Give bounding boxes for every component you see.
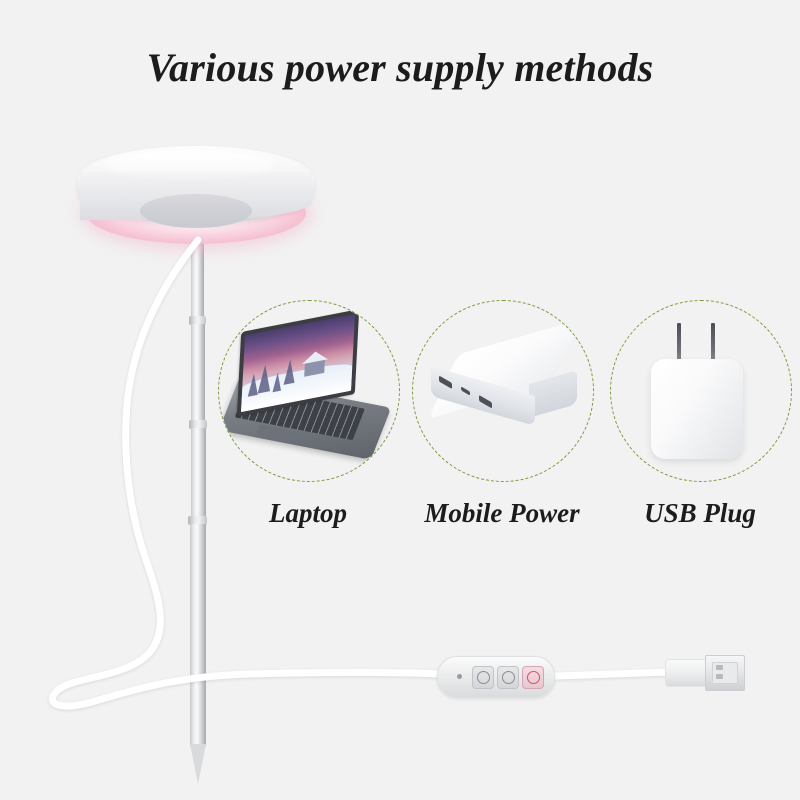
lamp-highlight bbox=[104, 150, 274, 180]
inline-controller[interactable] bbox=[437, 656, 555, 698]
power-option-label-usb-plug: USB Plug bbox=[610, 498, 790, 529]
power-button[interactable] bbox=[522, 666, 544, 689]
usb-contact-pin bbox=[716, 674, 723, 679]
status-led-icon bbox=[457, 674, 462, 679]
power-option-label-mobile-power: Mobile Power bbox=[402, 498, 602, 529]
pole-segment-1 bbox=[191, 232, 204, 318]
usb-a-connector bbox=[665, 655, 743, 689]
usb-contact-pin bbox=[716, 665, 723, 670]
page-title: Various power supply methods bbox=[0, 44, 800, 91]
charger-body bbox=[651, 359, 743, 459]
power-option-mobile-power bbox=[412, 300, 594, 482]
lamp-inner-disc bbox=[140, 194, 252, 228]
wallpaper-tree bbox=[283, 358, 295, 385]
usb-a-port bbox=[479, 395, 492, 408]
brightness-icon bbox=[502, 671, 515, 684]
wallpaper-tree bbox=[258, 363, 272, 393]
pole-segment-2 bbox=[191, 324, 205, 422]
wallpaper-tree bbox=[272, 372, 281, 393]
cable-path-main bbox=[52, 240, 440, 706]
power-icon bbox=[527, 671, 540, 684]
product-infographic: Various power supply methods bbox=[0, 0, 800, 800]
laptop-icon bbox=[223, 317, 395, 467]
wall-charger-icon bbox=[651, 323, 751, 463]
pole-segment-4 bbox=[190, 524, 206, 746]
timer-button[interactable] bbox=[472, 666, 494, 689]
power-option-laptop bbox=[218, 300, 400, 482]
clock-icon bbox=[477, 671, 490, 684]
plug-prong bbox=[677, 323, 681, 363]
usb-a-port bbox=[439, 376, 452, 389]
power-option-usb-plug bbox=[610, 300, 792, 482]
stake-tip-icon bbox=[190, 744, 206, 784]
power-option-label-laptop: Laptop bbox=[218, 498, 398, 529]
usb-connector-shell bbox=[665, 659, 709, 687]
micro-usb-port bbox=[461, 386, 470, 395]
pole-segment-3 bbox=[191, 428, 206, 518]
brightness-button[interactable] bbox=[497, 666, 519, 689]
plug-prong bbox=[711, 323, 715, 363]
cable-path-to-plug bbox=[556, 672, 668, 676]
power-bank-icon bbox=[425, 341, 583, 441]
lamp-head bbox=[78, 146, 314, 242]
